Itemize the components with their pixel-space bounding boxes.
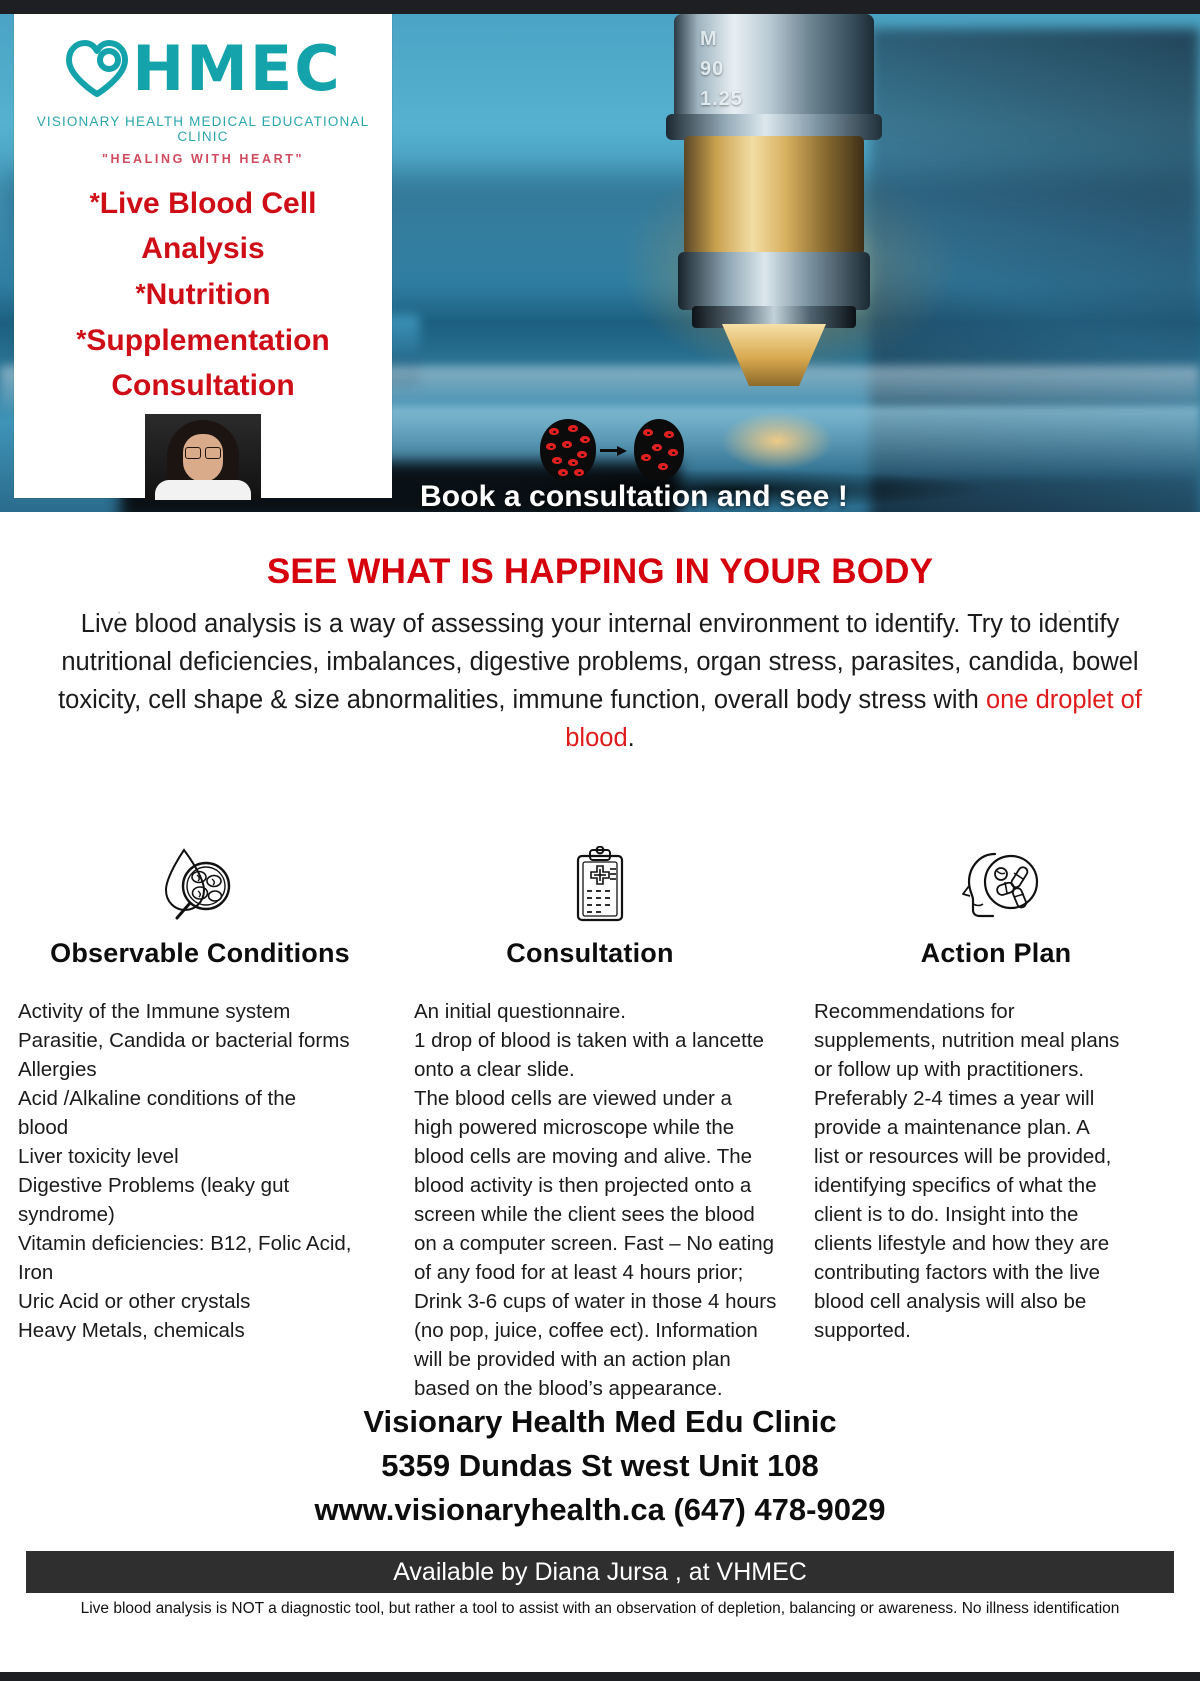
blood-cell-comparison-diagram — [540, 419, 690, 481]
arrow-right-icon — [600, 446, 630, 455]
services-list: *Live Blood Cell Analysis *Nutrition *Su… — [14, 180, 392, 408]
contact-block: Visionary Health Med Edu Clinic 5359 Dun… — [0, 1400, 1200, 1532]
blood-droplet-microscope-icon — [14, 840, 386, 924]
blood-sample-after — [634, 419, 684, 481]
clinic-address: 5359 Dundas St west Unit 108 — [0, 1444, 1200, 1488]
column-body: Recommendations for supplements, nutriti… — [814, 997, 1186, 1345]
column-title: Action Plan — [810, 938, 1182, 969]
logo-subtitle: VISIONARY HEALTH MEDICAL EDUCATIONAL CLI… — [24, 114, 382, 144]
page-headline: SEE WHAT IS HAPPING IN YOUR BODY — [0, 552, 1200, 592]
logo-card: HMEC VISIONARY HEALTH MEDICAL EDUCATIONA… — [14, 14, 392, 498]
clipboard-medical-icon — [414, 840, 786, 924]
column-body: Activity of the Immune system Parasitie,… — [18, 997, 386, 1345]
service-line-3: *Nutrition — [14, 271, 392, 317]
clinic-web-phone: www.visionaryhealth.ca (647) 478-9029 — [0, 1488, 1200, 1532]
service-line-4: *Supplementation — [14, 317, 392, 363]
objective-label: M 90 1.25 — [700, 24, 743, 114]
column-consultation: Consultation An initial questionnaire. 1… — [400, 840, 800, 1403]
column-title: Observable Conditions — [14, 938, 386, 969]
logo-tagline: "HEALING WITH HEART" — [24, 152, 382, 166]
asterisk-icon: * — [76, 324, 86, 354]
flyer-page: M 90 1.25 — [0, 0, 1200, 1681]
column-title: Consultation — [404, 938, 776, 969]
asterisk-icon: * — [90, 187, 100, 217]
practitioner-photo — [145, 414, 261, 500]
logo-wordmark: HMEC — [132, 38, 341, 100]
availability-bar: Available by Diana Jursa , at VHMEC — [26, 1551, 1174, 1593]
top-border-bar — [0, 0, 1200, 14]
info-columns: Observable Conditions Activity of the Im… — [0, 840, 1200, 1403]
column-action-plan: Action Plan Recommendations for suppleme… — [800, 840, 1200, 1403]
service-line-2: Analysis — [14, 226, 392, 271]
service-line-1: *Live Blood Cell — [14, 180, 392, 226]
hero-section: M 90 1.25 — [0, 0, 1200, 512]
head-supplements-icon — [814, 840, 1186, 924]
clinic-name: Visionary Health Med Edu Clinic — [0, 1400, 1200, 1444]
blood-sample-before — [540, 419, 596, 481]
lens-reflection — [722, 412, 832, 470]
disclaimer-text: Live blood analysis is NOT a diagnostic … — [0, 1600, 1200, 1618]
microscope-objective-icon: M 90 1.25 — [648, 14, 898, 414]
asterisk-icon: * — [135, 278, 145, 308]
heart-pulse-icon — [64, 39, 130, 99]
service-line-5: Consultation — [14, 363, 392, 408]
hero-cta-text: Book a consultation and see ! — [420, 480, 1120, 512]
column-body: An initial questionnaire. 1 drop of bloo… — [414, 997, 786, 1403]
intro-paragraph: Live blood analysis is a way of assessin… — [28, 605, 1172, 757]
intro-text: Live blood analysis is a way of assessin… — [58, 610, 1139, 714]
bottom-border-bar — [0, 1672, 1200, 1681]
column-observable-conditions: Observable Conditions Activity of the Im… — [0, 840, 400, 1403]
intro-period: . — [628, 724, 635, 752]
